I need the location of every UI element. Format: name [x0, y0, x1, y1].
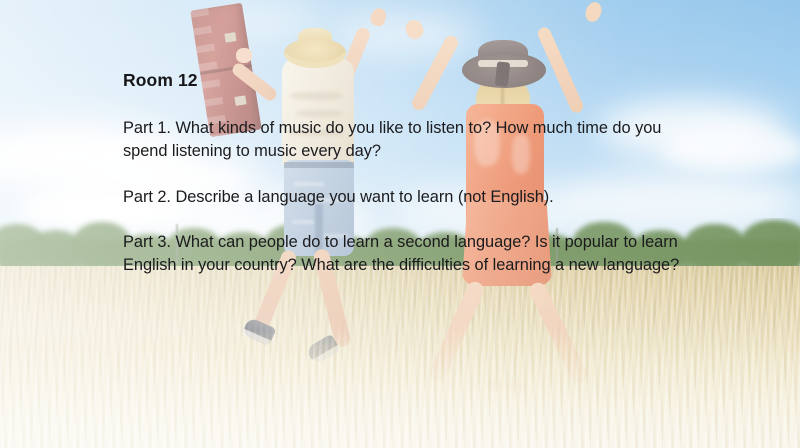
man-left-hand [236, 48, 252, 63]
prompt-part-1: Part 1. What kinds of music do you like … [123, 117, 703, 164]
man-right-hand [369, 6, 389, 28]
slide-text-block: Room 12 Part 1. What kinds of music do y… [123, 70, 703, 277]
prompt-part-3: Part 3. What can people do to learn a se… [123, 231, 703, 278]
foreground-wheat-texture [0, 318, 800, 448]
straw-hat-icon [284, 38, 346, 68]
suitcase-latch [224, 32, 236, 43]
woman-left-hand [403, 17, 427, 42]
slide-canvas: Room 12 Part 1. What kinds of music do y… [0, 0, 800, 448]
prompt-part-2: Part 2. Describe a language you want to … [123, 186, 703, 209]
tree-icon [740, 220, 800, 268]
woman-right-hand [583, 0, 604, 24]
page-title: Room 12 [123, 70, 703, 91]
